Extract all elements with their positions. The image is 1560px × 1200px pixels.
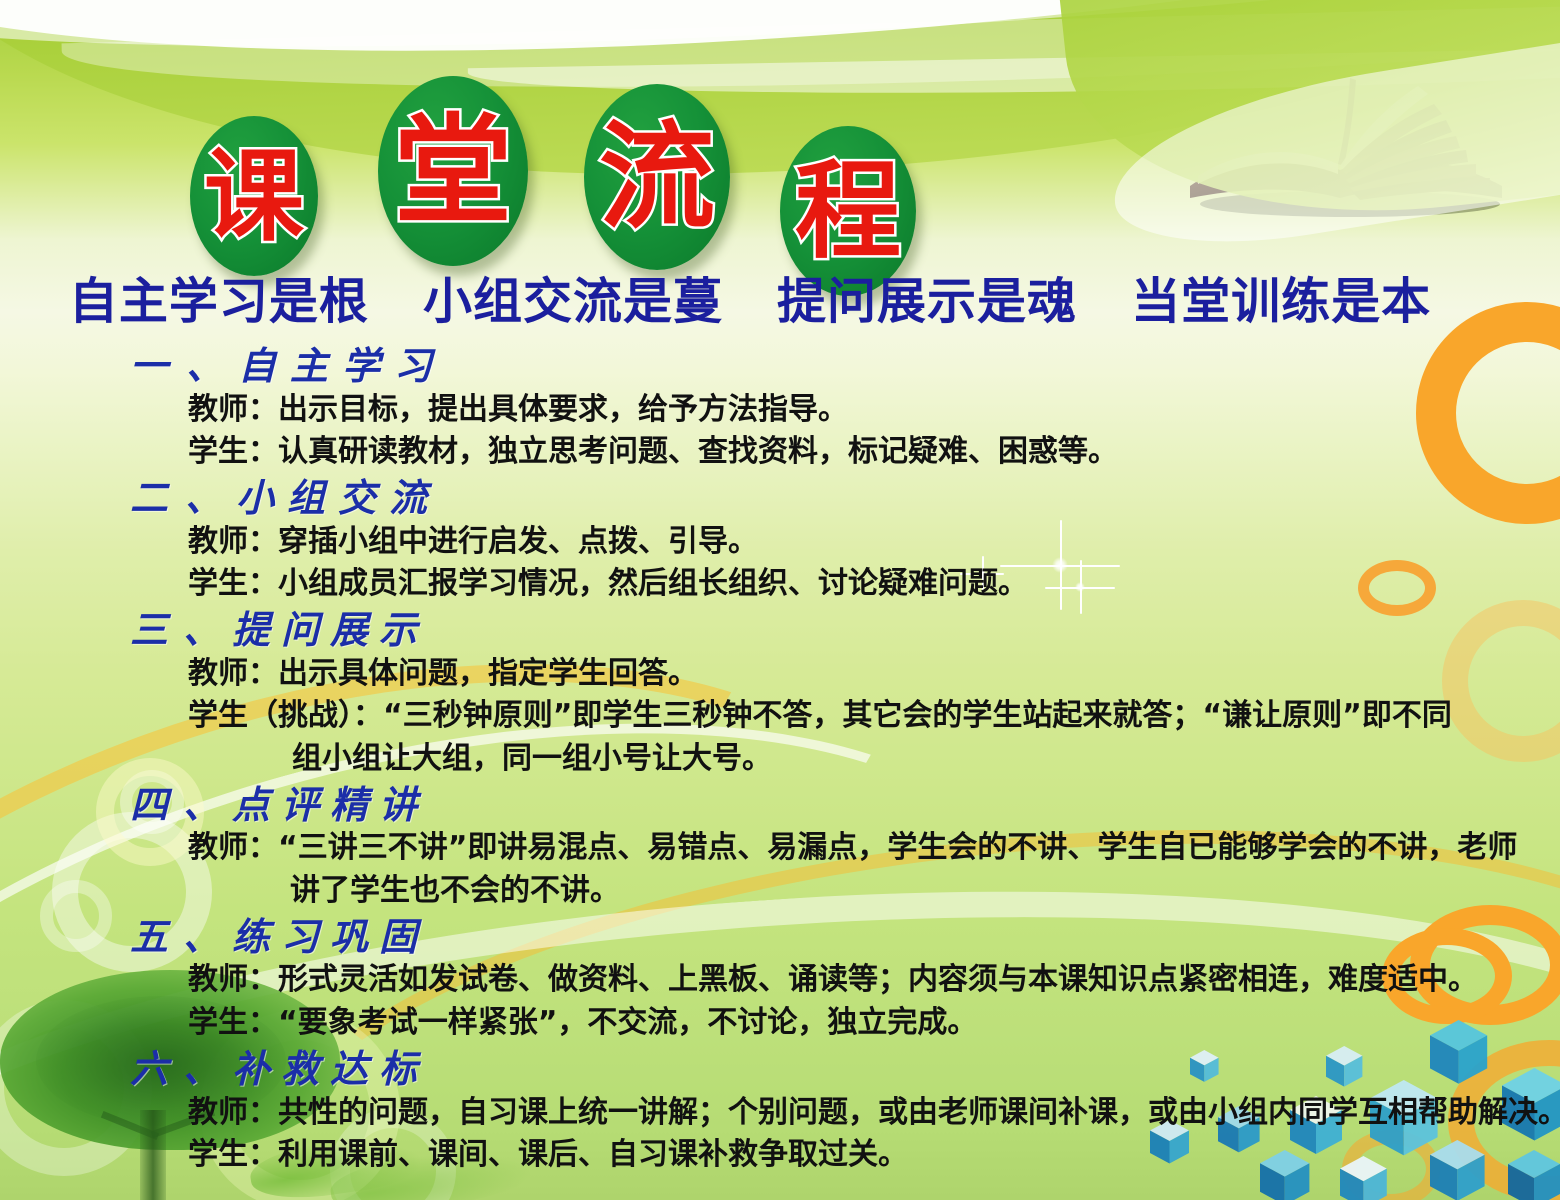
- section-3-number: 三: [130, 607, 179, 652]
- section-2-heading: 二、小组交流: [130, 476, 1560, 521]
- section-3-heading: 三、提问展示: [130, 608, 1560, 653]
- section-2-number: 二: [130, 475, 181, 520]
- section-2-mark: 、: [185, 475, 236, 520]
- section-6: 六、补救达标 教师：共性的问题，自习课上统一讲解；个别问题，或由老师课间补课，或…: [0, 1047, 1560, 1177]
- section-5-mark: 、: [183, 914, 232, 959]
- title-badge-1: 课: [190, 116, 318, 276]
- section-1-title: 自主学习: [238, 343, 446, 388]
- poster-title: 课 堂 流 程: [0, 44, 1040, 244]
- section-1-line-2: 学生：认真研读教材，独立思考问题、查找资料，标记疑难、困惑等。: [188, 431, 1560, 474]
- section-1-heading: 一、自主学习: [130, 344, 1560, 389]
- section-4: 四、点评精讲 教师：“三讲三不讲”即讲易混点、易错点、易漏点，学生会的不讲、学生…: [0, 783, 1560, 913]
- section-3-line-3: 组小组让大组，同一组小号让大号。: [292, 738, 1560, 781]
- section-5-line-2: 学生：“要象考试一样紧张”，不交流，不讨论，独立完成。: [188, 1002, 1560, 1045]
- section-3: 三、提问展示 教师：出示具体问题，指定学生回答。 学生（挑战）：“三秒钟原则”即…: [0, 608, 1560, 781]
- title-badge-3: 流: [584, 84, 730, 270]
- section-1-line-1: 教师：出示目标，提出具体要求，给予方法指导。: [188, 389, 1560, 432]
- section-6-title: 补救达标: [232, 1046, 428, 1091]
- section-5-line-1: 教师：形式灵活如发试卷、做资料、上黑板、诵读等；内容须与本课知识点紧密相连，难度…: [188, 959, 1560, 1002]
- section-6-mark: 、: [183, 1046, 232, 1091]
- section-6-heading: 六、补救达标: [130, 1047, 1560, 1092]
- title-badge-2: 堂: [378, 76, 528, 266]
- section-1-number: 一: [130, 343, 182, 388]
- section-6-line-1: 教师：共性的问题，自习课上统一讲解；个别问题，或由老师课间补课，或由小组内同学互…: [188, 1092, 1560, 1135]
- section-4-number: 四: [130, 782, 179, 827]
- section-5-heading: 五、练习巩固: [130, 915, 1560, 960]
- subtitle-phrase-1: 自主学习是根: [69, 273, 369, 330]
- section-4-title: 点评精讲: [232, 782, 428, 827]
- title-char-1: 课: [204, 146, 304, 246]
- section-3-title: 提问展示: [232, 607, 428, 652]
- section-5: 五、练习巩固 教师：形式灵活如发试卷、做资料、上黑板、诵读等；内容须与本课知识点…: [0, 915, 1560, 1045]
- subtitle-phrase-2: 小组交流是蔓: [423, 273, 723, 330]
- section-2-title: 小组交流: [236, 475, 440, 520]
- section-5-title: 练习巩固: [232, 914, 428, 959]
- section-2-line-2: 学生：小组成员汇报学习情况，然后组长组织、讨论疑难问题。: [188, 563, 1560, 606]
- section-5-number: 五: [130, 914, 179, 959]
- section-4-line-2: 讲了学生也不会的不讲。: [290, 870, 1560, 913]
- section-6-line-2: 学生：利用课前、课间、课后、自习课补救争取过关。: [188, 1134, 1560, 1177]
- section-1: 一、自主学习 教师：出示目标，提出具体要求，给予方法指导。 学生：认真研读教材，…: [0, 344, 1560, 474]
- section-2: 二、小组交流 教师：穿插小组中进行启发、点拨、引导。 学生：小组成员汇报学习情况…: [0, 476, 1560, 606]
- section-4-line-1: 教师：“三讲三不讲”即讲易混点、易错点、易漏点，学生会的不讲、学生自已能够学会的…: [188, 827, 1560, 870]
- section-4-mark: 、: [183, 782, 232, 827]
- poster-root: 课 堂 流 程 自主学习是根 小组交流是蔓 提问展示是魂 当堂训练是本 一、自主…: [0, 0, 1560, 1200]
- open-book-illustration: [1150, 8, 1550, 238]
- subtitle-phrase-4: 当堂训练是本: [1131, 273, 1431, 330]
- title-char-4: 程: [795, 158, 901, 264]
- section-4-heading: 四、点评精讲: [130, 783, 1560, 828]
- title-char-3: 流: [599, 119, 715, 235]
- subtitle-phrase-3: 提问展示是魂: [777, 273, 1077, 330]
- poster-subtitle: 自主学习是根 小组交流是蔓 提问展示是魂 当堂训练是本: [0, 262, 1500, 333]
- section-2-line-1: 教师：穿插小组中进行启发、点拨、引导。: [188, 521, 1560, 564]
- section-1-mark: 、: [186, 343, 238, 388]
- title-char-2: 堂: [394, 112, 512, 230]
- section-6-number: 六: [130, 1046, 179, 1091]
- section-3-line-1: 教师：出示具体问题，指定学生回答。: [188, 653, 1560, 696]
- procedure-list: 一、自主学习 教师：出示目标，提出具体要求，给予方法指导。 学生：认真研读教材，…: [0, 344, 1560, 1179]
- section-3-mark: 、: [183, 607, 232, 652]
- section-3-line-2: 学生（挑战）：“三秒钟原则”即学生三秒钟不答，其它会的学生站起来就答；“谦让原则…: [188, 695, 1560, 738]
